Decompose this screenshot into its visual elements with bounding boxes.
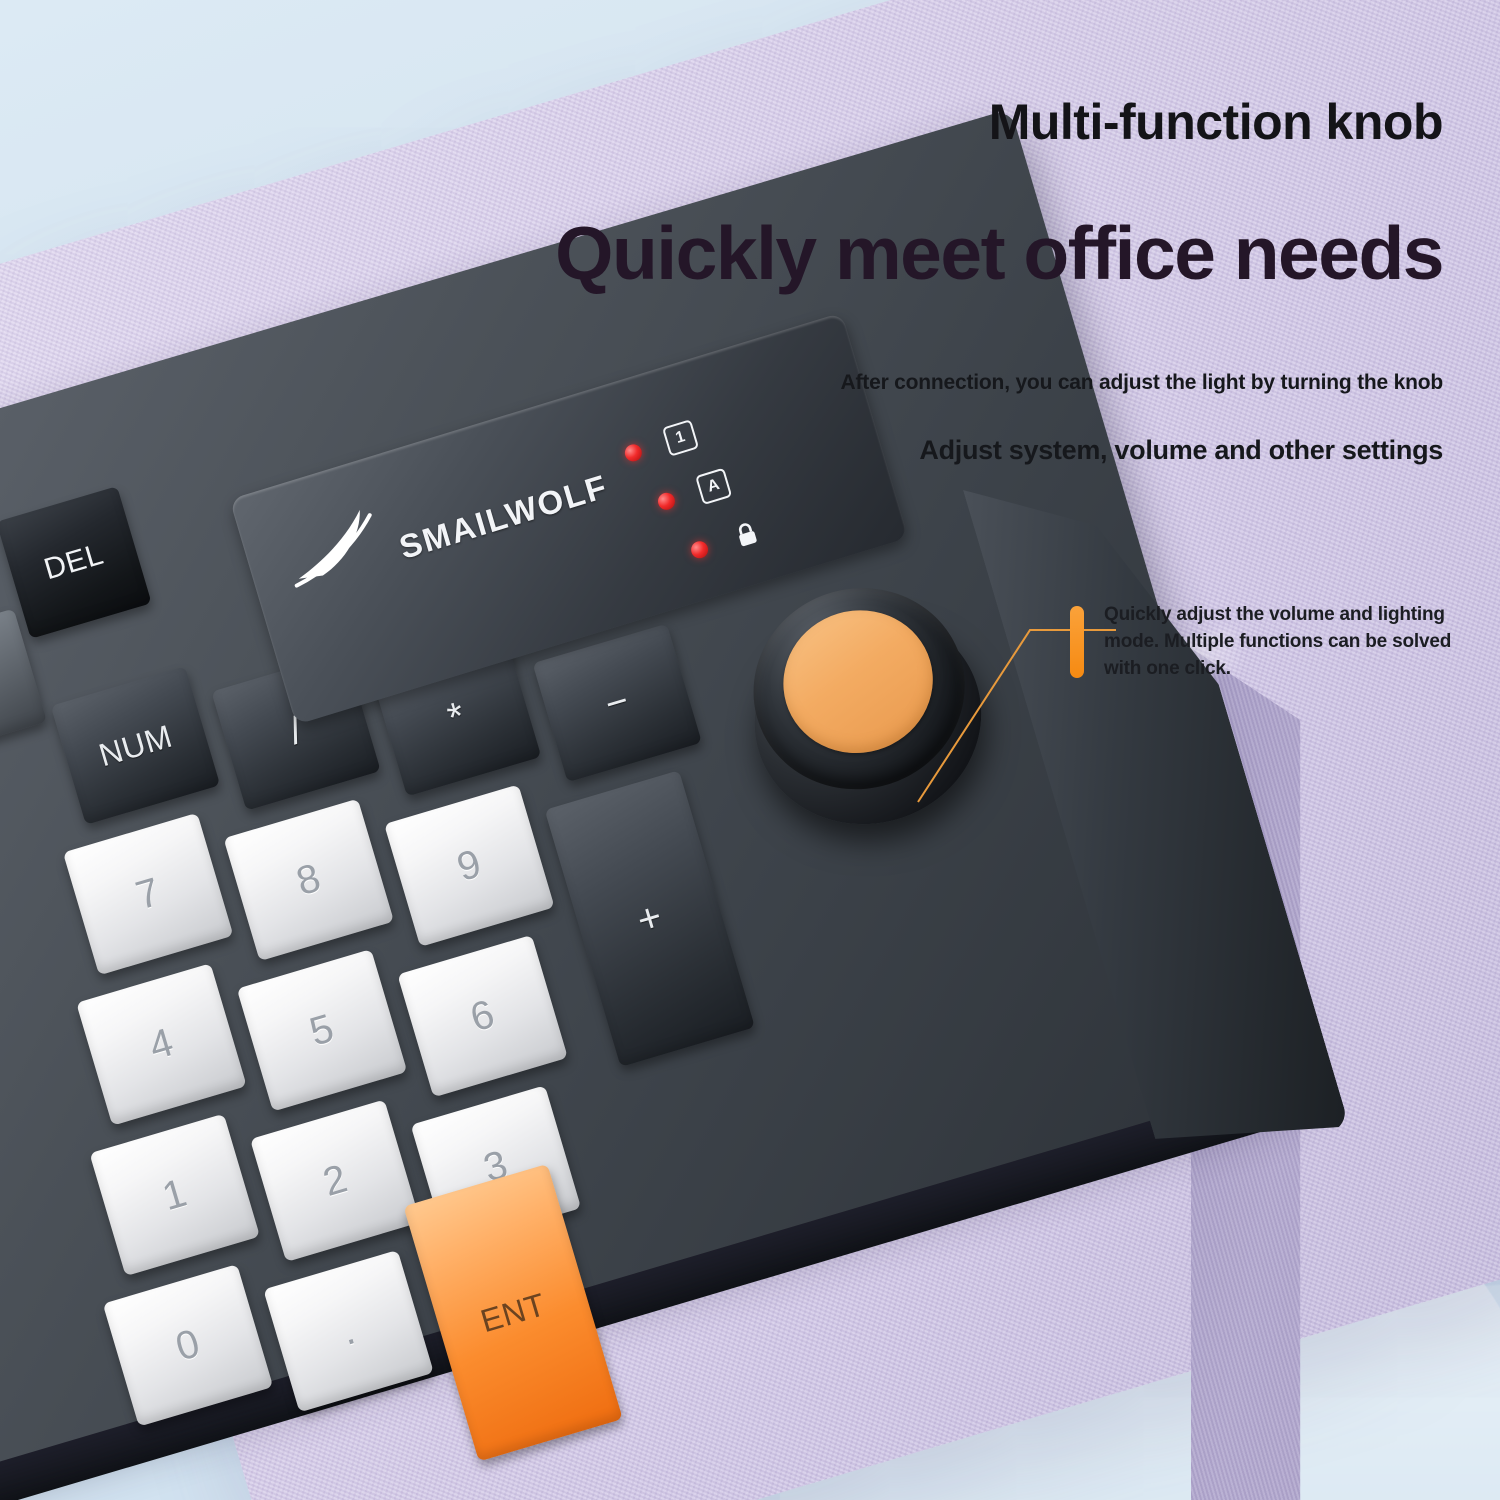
page-title: Quickly meet office needs bbox=[463, 215, 1443, 292]
keycap-label: − bbox=[600, 679, 634, 727]
keycap-label: + bbox=[632, 894, 668, 944]
scroll-lock-padlock-icon bbox=[728, 516, 765, 554]
wing-swoosh-logo-icon bbox=[278, 494, 410, 589]
keycap-label: 8 bbox=[291, 855, 326, 905]
headline-block: Multi-function knob Quickly meet office … bbox=[463, 96, 1443, 466]
keycap-label: ENT bbox=[476, 1286, 549, 1340]
indicator-scroll-lock bbox=[687, 516, 765, 566]
callout-text: Quickly adjust the volume and lighting m… bbox=[1104, 602, 1464, 683]
keycap-label: 7 bbox=[131, 869, 166, 919]
keycap-label: 2 bbox=[318, 1156, 353, 1206]
keycap-label: NUM bbox=[95, 717, 177, 774]
keycap-label: . bbox=[337, 1308, 361, 1354]
scroll-lock-led bbox=[689, 539, 710, 560]
brand-name: SMAILWOLF bbox=[395, 467, 612, 567]
keycap-label: 0 bbox=[171, 1321, 206, 1371]
keycap-label: 6 bbox=[465, 991, 500, 1041]
subtitle-line-1: After connection, you can adjust the lig… bbox=[463, 371, 1443, 395]
keycap-label: DEL bbox=[40, 538, 107, 588]
keycap-label: * bbox=[443, 693, 471, 741]
keycap-label: 4 bbox=[144, 1020, 179, 1070]
keycap-label: 5 bbox=[305, 1005, 340, 1055]
indicator-caps-lock: A bbox=[654, 468, 732, 518]
eyebrow-heading: Multi-function knob bbox=[463, 96, 1443, 149]
keycap-label: 1 bbox=[157, 1170, 192, 1220]
subtitle-line-2: Adjust system, volume and other settings bbox=[463, 435, 1443, 466]
product-marketing-banner: F10F11F12DEL– _+ ={ [} ]| \BACKENTSHIFTN… bbox=[0, 0, 1500, 1500]
caps-lock-led bbox=[656, 490, 677, 511]
callout-leader-line bbox=[880, 620, 1120, 880]
caps-lock-indicator-icon: A bbox=[695, 468, 732, 506]
callout-accent-bar bbox=[1070, 606, 1084, 678]
keycap-label: 9 bbox=[452, 841, 487, 891]
